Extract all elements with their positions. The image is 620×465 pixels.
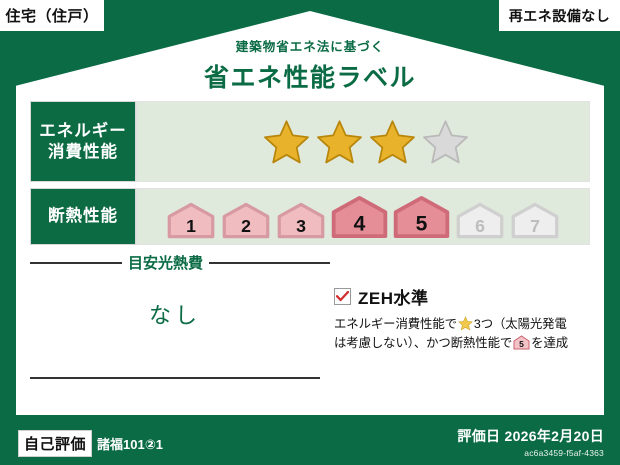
document-hash: ac6a3459-f5af-4363 xyxy=(457,448,604,458)
star-icon-empty xyxy=(422,119,469,164)
row-energy-label: エネルギー 消費性能 xyxy=(30,101,136,182)
insulation-house-1: 1 xyxy=(165,202,217,239)
self-evaluation-badge: 自己評価 xyxy=(18,430,92,457)
star-rating xyxy=(263,119,469,164)
zeh-header: ZEH水準 xyxy=(334,284,596,309)
footer-left: 自己評価 諸福101②1 xyxy=(18,430,163,457)
insulation-house-number: 1 xyxy=(186,215,196,235)
tag-building-type: 住宅（住戸） xyxy=(0,0,104,31)
zeh-block: ZEH水準 エネルギー消費性能で3つ（太陽光発電 は考慮しない）、かつ断熱性能で… xyxy=(334,284,596,353)
zeh-title: ZEH水準 xyxy=(358,284,429,309)
title-subtitle: 建築物省エネ法に基づく xyxy=(0,36,620,55)
insulation-house-scale: 1234567 xyxy=(165,195,561,239)
insulation-house-number: 3 xyxy=(296,215,306,235)
row-energy-label-line1: エネルギー xyxy=(39,121,127,142)
row-energy-value xyxy=(136,101,590,182)
star-icon-filled xyxy=(316,119,363,164)
row-insulation-label-text: 断熱性能 xyxy=(48,206,118,227)
zeh-desc-line2-a: は考慮しない）、かつ断熱性能で xyxy=(334,336,512,350)
utility-cost-bottom-rule xyxy=(30,377,320,379)
row-insulation-performance: 断熱性能 1234567 xyxy=(30,188,590,245)
insulation-house-number: 4 xyxy=(354,212,366,235)
row-energy-label-line2: 消費性能 xyxy=(48,142,118,163)
zeh-desc-line2-b: を達成 xyxy=(531,336,568,350)
insulation-house-7: 7 xyxy=(509,202,561,239)
insulation-house-number: 2 xyxy=(241,215,251,235)
insulation-house-6: 6 xyxy=(454,202,506,239)
footer-right: 評価日 2026年2月20日 ac6a3459-f5af-4363 xyxy=(457,426,604,458)
insulation-house-number: 5 xyxy=(416,212,428,235)
row-energy-performance: エネルギー 消費性能 xyxy=(30,101,590,182)
insulation-house-number: 7 xyxy=(530,215,540,235)
tag-renewable-equipment: 再エネ設備なし xyxy=(499,0,620,31)
star-icon-inline xyxy=(458,316,473,331)
evaluation-date: 評価日 2026年2月20日 xyxy=(457,426,604,446)
row-insulation-value: 1234567 xyxy=(136,188,590,245)
cost-rule-left xyxy=(30,262,122,264)
label-title-block: 建築物省エネ法に基づく 省エネ性能ラベル xyxy=(0,36,620,94)
insulation-house-number: 6 xyxy=(475,215,485,235)
cost-rule-right xyxy=(209,262,330,264)
insulation-house-2: 2 xyxy=(220,202,272,239)
insulation-house-3: 3 xyxy=(275,202,327,239)
zeh-checkbox[interactable] xyxy=(334,288,351,305)
insulation-house-5: 5 xyxy=(392,195,451,239)
check-icon xyxy=(336,291,349,302)
zeh-desc-line1-a: エネルギー消費性能で xyxy=(334,317,457,331)
insulation-house-4: 4 xyxy=(330,195,389,239)
row-insulation-label: 断熱性能 xyxy=(30,188,136,245)
utility-cost-title: 目安光熱費 xyxy=(128,252,203,273)
zeh-desc-line1-b: 3つ（太陽光発電 xyxy=(474,317,567,331)
title-main: 省エネ性能ラベル xyxy=(0,58,620,94)
utility-cost-header: 目安光熱費 xyxy=(30,252,330,273)
zeh-description: エネルギー消費性能で3つ（太陽光発電 は考慮しない）、かつ断熱性能で5を達成 xyxy=(334,315,596,353)
utility-cost-value: なし xyxy=(30,298,320,330)
star-icon-filled xyxy=(369,119,416,164)
house-icon-inline: 5 xyxy=(513,335,530,350)
svg-text:5: 5 xyxy=(519,339,524,349)
property-name: 諸福101②1 xyxy=(97,434,163,453)
energy-performance-label: 住宅（住戸） 再エネ設備なし 建築物省エネ法に基づく 省エネ性能ラベル エネルギ… xyxy=(0,0,620,465)
star-icon-filled xyxy=(263,119,310,164)
